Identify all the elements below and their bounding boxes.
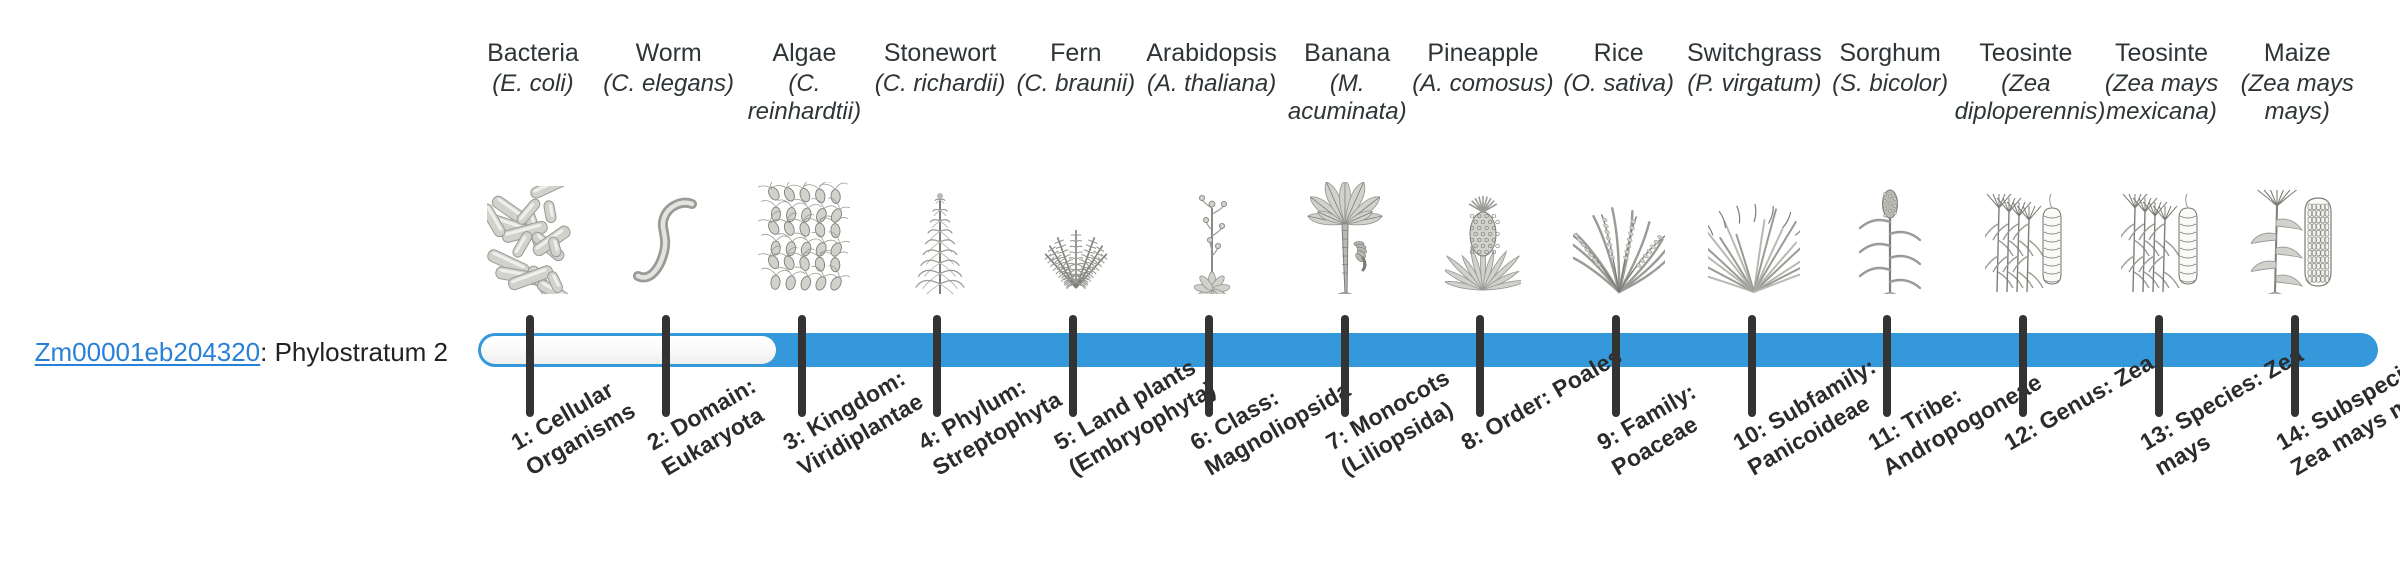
phylostratum-tick[interactable]	[1476, 315, 1484, 417]
species-column: Banana(M. acuminata)	[1276, 0, 1419, 580]
fern-frond-icon	[1005, 172, 1148, 294]
species-scientific-name: (O. sativa)	[1547, 70, 1690, 98]
species-scientific-name: (S. bicolor)	[1819, 70, 1962, 98]
maize-plant-cob-icon	[2226, 172, 2369, 294]
banana-tree-icon	[1276, 172, 1419, 294]
species-common-name: Pineapple	[1412, 38, 1555, 68]
phylostratum-value: Phylostratum 2	[275, 337, 448, 367]
species-common-name: Teosinte	[1955, 38, 2098, 68]
species-column: Maize(Zea mays mays)	[2226, 0, 2369, 580]
bacteria-rods-icon	[462, 172, 605, 294]
species-scientific-name: (P. virgatum)	[1683, 70, 1826, 98]
species-column: Arabidopsis(A. thaliana)	[1140, 0, 1283, 580]
phylostratum-tick[interactable]	[2291, 315, 2299, 417]
phylostratum-tick[interactable]	[1612, 315, 1620, 417]
phylostratum-tick[interactable]	[798, 315, 806, 417]
species-scientific-name: (Zea mays mexicana)	[2090, 70, 2233, 126]
species-column: Teosinte(Zea diploperennis)	[1955, 0, 2098, 580]
species-common-name: Teosinte	[2090, 38, 2233, 68]
species-column: Switchgrass(P. virgatum)	[1683, 0, 1826, 580]
species-scientific-name: (E. coli)	[462, 70, 605, 98]
species-common-name: Arabidopsis	[1140, 38, 1283, 68]
teosinte-plant-ear-icon	[1955, 172, 2098, 294]
species-common-name: Banana	[1276, 38, 1419, 68]
nematode-worm-icon	[597, 172, 740, 294]
phylostratum-tick[interactable]	[1205, 315, 1213, 417]
caption-separator: :	[260, 337, 274, 367]
species-scientific-name: (C. elegans)	[597, 70, 740, 98]
species-column: Algae(C. reinhardtii)	[733, 0, 876, 580]
pineapple-plant-icon	[1412, 172, 1555, 294]
species-column: Bacteria(E. coli)	[462, 0, 605, 580]
species-scientific-name: (A. comosus)	[1412, 70, 1555, 98]
phylostratum-tick[interactable]	[2155, 315, 2163, 417]
species-scientific-name: (A. thaliana)	[1140, 70, 1283, 98]
species-column: Fern(C. braunii)	[1005, 0, 1148, 580]
gene-id-link[interactable]: Zm00001eb204320	[35, 337, 261, 367]
species-common-name: Fern	[1005, 38, 1148, 68]
species-column: Stonewort(C. richardii)	[869, 0, 1012, 580]
phylostratum-tick[interactable]	[1341, 315, 1349, 417]
phylostratigraphy-figure: Zm00001eb204320: Phylostratum 2 Bacteria…	[0, 0, 2400, 580]
arabidopsis-plant-icon	[1140, 172, 1283, 294]
stonewort-plant-icon	[869, 172, 1012, 294]
species-scientific-name: (C. braunii)	[1005, 70, 1148, 98]
sorghum-plant-icon	[1819, 172, 1962, 294]
species-column: Pineapple(A. comosus)	[1412, 0, 1555, 580]
species-scientific-name: (Zea mays mays)	[2226, 70, 2369, 126]
species-column: Teosinte(Zea mays mexicana)	[2090, 0, 2233, 580]
species-column: Sorghum(S. bicolor)	[1819, 0, 1962, 580]
species-common-name: Worm	[597, 38, 740, 68]
species-scientific-name: (Zea diploperennis)	[1955, 70, 2098, 126]
species-common-name: Sorghum	[1819, 38, 1962, 68]
phylostratum-tick[interactable]	[662, 315, 670, 417]
species-common-name: Bacteria	[462, 38, 605, 68]
phylostratum-tick[interactable]	[2019, 315, 2027, 417]
species-common-name: Switchgrass	[1683, 38, 1826, 68]
gene-phylostratum-caption: Zm00001eb204320: Phylostratum 2	[0, 336, 460, 368]
species-common-name: Stonewort	[869, 38, 1012, 68]
phylostratum-tick[interactable]	[526, 315, 534, 417]
phylostratum-tick[interactable]	[1883, 315, 1891, 417]
species-column: Worm(C. elegans)	[597, 0, 740, 580]
rice-plant-icon	[1547, 172, 1690, 294]
teosinte-plant-ear-icon	[2090, 172, 2233, 294]
species-scientific-name: (M. acuminata)	[1276, 70, 1419, 126]
species-scientific-name: (C. richardii)	[869, 70, 1012, 98]
species-common-name: Algae	[733, 38, 876, 68]
phylostratum-tick[interactable]	[933, 315, 941, 417]
phylostratum-tick[interactable]	[1748, 315, 1756, 417]
switchgrass-plant-icon	[1683, 172, 1826, 294]
species-common-name: Rice	[1547, 38, 1690, 68]
species-scientific-name: (C. reinhardtii)	[733, 70, 876, 126]
species-column: Rice(O. sativa)	[1547, 0, 1690, 580]
algae-cells-icon	[733, 172, 876, 294]
species-track: Bacteria(E. coli)Worm(C. elegans)Algae(C…	[478, 0, 2378, 580]
phylostratum-tick[interactable]	[1069, 315, 1077, 417]
species-common-name: Maize	[2226, 38, 2369, 68]
